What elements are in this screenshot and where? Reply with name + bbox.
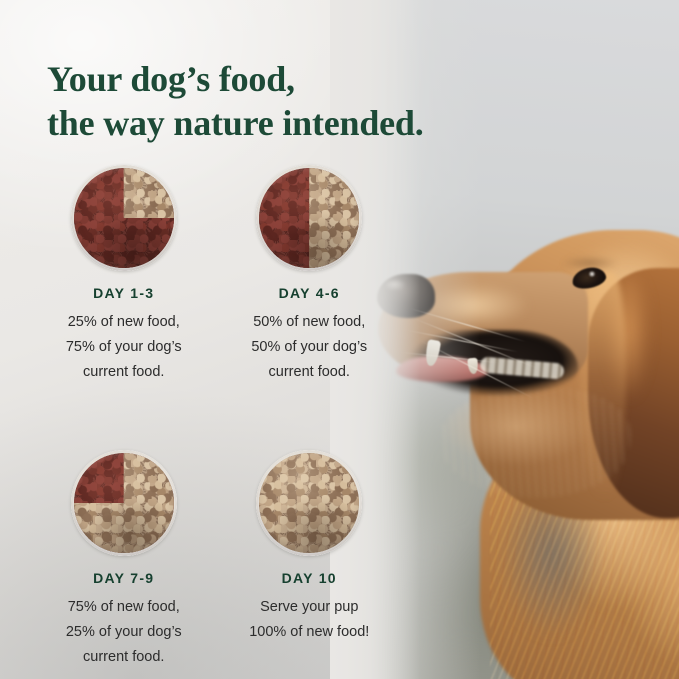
dog-eye-glint: [588, 271, 596, 277]
bowl-day-7-9: [71, 450, 177, 556]
desc-line-1: 25% of new food,: [33, 310, 215, 335]
step-day-7-9: DAY 7-9 75% of new food, 25% of your dog…: [33, 450, 215, 670]
bowl-dish: [256, 450, 362, 556]
steps-row-1: DAY 1-3 25% of new food, 75% of your dog…: [0, 165, 400, 385]
step-day-10: DAY 10 Serve your pup 100% of new food!: [219, 450, 401, 670]
desc-line-3: current food.: [219, 360, 401, 385]
desc-line-3: current food.: [33, 360, 215, 385]
bowl-day-4-6: [256, 165, 362, 271]
day-label: DAY 1-3: [33, 285, 215, 301]
bowl-dish: [71, 450, 177, 556]
desc-line-3: current food.: [33, 645, 215, 670]
desc-line-1: 75% of new food,: [33, 595, 215, 620]
bowl-food: [74, 168, 174, 268]
steps-row-2: DAY 7-9 75% of new food, 25% of your dog…: [0, 450, 400, 670]
desc-line-2: 100% of new food!: [219, 620, 401, 645]
day-label: DAY 10: [219, 570, 401, 586]
step-day-1-3: DAY 1-3 25% of new food, 75% of your dog…: [33, 165, 215, 385]
bowl-dish: [71, 165, 177, 271]
bowl-food: [259, 168, 359, 268]
bowl-day-1-3: [71, 165, 177, 271]
page-title: Your dog’s food, the way nature intended…: [47, 57, 517, 145]
desc-line-1: 50% of new food,: [219, 310, 401, 335]
bowl-dish: [256, 165, 362, 271]
step-description: 75% of new food, 25% of your dog’s curre…: [33, 595, 215, 670]
headline-line-1: Your dog’s food,: [47, 57, 517, 101]
day-label: DAY 7-9: [33, 570, 215, 586]
step-description: 50% of new food, 50% of your dog’s curre…: [219, 310, 401, 385]
desc-line-1: Serve your pup: [219, 595, 401, 620]
day-label: DAY 4-6: [219, 285, 401, 301]
desc-line-2: 50% of your dog’s: [219, 335, 401, 360]
step-description: 25% of new food, 75% of your dog’s curre…: [33, 310, 215, 385]
transition-steps: DAY 1-3 25% of new food, 75% of your dog…: [0, 165, 400, 670]
step-day-4-6: DAY 4-6 50% of new food, 50% of your dog…: [219, 165, 401, 385]
bowl-food: [74, 453, 174, 553]
new-food-kibble: [259, 453, 359, 553]
headline-line-2: the way nature intended.: [47, 101, 517, 145]
infographic-canvas: Your dog’s food, the way nature intended…: [0, 0, 679, 679]
bowl-food: [259, 453, 359, 553]
bowl-day-10: [256, 450, 362, 556]
desc-line-2: 75% of your dog’s: [33, 335, 215, 360]
step-description: Serve your pup 100% of new food!: [219, 595, 401, 645]
desc-line-2: 25% of your dog’s: [33, 620, 215, 645]
